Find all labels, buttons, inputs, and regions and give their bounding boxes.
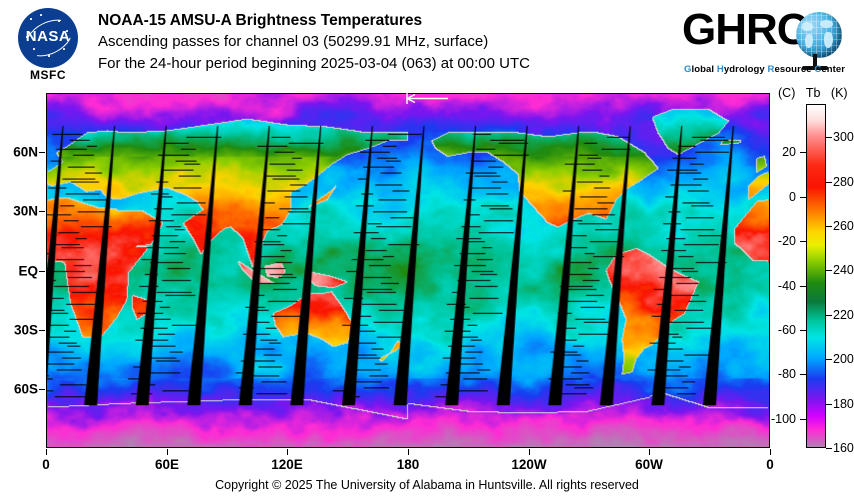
x-axis-label: 120E [271,457,303,472]
colorbar-quantity: Tb [806,86,821,100]
x-axis-label: 180 [397,457,420,472]
globe-icon [796,12,842,58]
y-axis-label: EQ [0,264,38,279]
x-axis-tick [408,449,409,455]
x-axis-tick [287,449,288,455]
x-axis-label: 120W [511,457,546,472]
colorbar-tick-celsius [800,330,806,331]
colorbar-label-kelvin: 200 [833,352,854,366]
colorbar-label-celsius: -20 [756,234,796,248]
colorbar-label-kelvin: 300 [833,130,854,144]
title-subline-pass: Ascending passes for channel 03 (50299.9… [98,31,678,53]
colorbar-gradient [806,104,826,448]
colorbar-label-celsius: -100 [756,412,796,426]
y-axis-label: 30N [0,204,38,219]
colorbar-label-celsius: -60 [756,323,796,337]
ghrc-subtitle: Global Hydrology Resource Center [684,64,848,75]
map-raster [47,94,769,447]
y-axis-label: 60N [0,145,38,160]
colorbar-label-celsius: -40 [756,279,796,293]
colorbar-tick-kelvin [826,359,832,360]
y-axis-tick [39,389,45,390]
x-axis-label: 0 [766,457,774,472]
colorbar-tick-celsius [800,419,806,420]
x-axis-tick [649,449,650,455]
page-title: NOAA-15 AMSU-A Brightness Temperatures [98,10,678,31]
colorbar-tick-celsius [800,374,806,375]
nasa-meatball-icon: NASA [18,8,78,68]
x-axis-label: 60E [155,457,179,472]
colorbar-unit-celsius: (C) [778,86,795,100]
colorbar-tick-celsius [800,241,806,242]
colorbar-tick-kelvin [826,404,832,405]
x-axis-label: 60W [635,457,663,472]
colorbar-label-celsius: -80 [756,367,796,381]
colorbar-tick-kelvin [826,315,832,316]
title-block: NOAA-15 AMSU-A Brightness Temperatures A… [98,10,678,75]
colorbar-label-celsius: 20 [756,145,796,159]
colorbar-tick-kelvin [826,137,832,138]
colorbar-tick-kelvin [826,226,832,227]
colorbar-label-celsius: 0 [756,190,796,204]
screenshot-root: NASA MSFC NOAA-15 AMSU-A Brightness Temp… [0,0,854,502]
brightness-temperature-map[interactable] [46,93,770,448]
ghrc-logo: GHRC Global Hydrology Resource Center [682,4,850,78]
y-axis-tick [39,211,45,212]
colorbar-label-kelvin: 220 [833,308,854,322]
colorbar-label-kelvin: 260 [833,219,854,233]
y-axis-tick [39,152,45,153]
copyright-notice: Copyright © 2025 The University of Alaba… [0,478,854,492]
colorbar-tick-kelvin [826,270,832,271]
colorbar-tick-celsius [800,286,806,287]
x-axis-tick [529,449,530,455]
y-axis-tick [39,271,45,272]
x-axis-tick [167,449,168,455]
y-axis-label: 30S [0,323,38,338]
colorbar-tick-celsius [800,197,806,198]
colorbar-label-kelvin: 180 [833,397,854,411]
x-axis-tick [770,449,771,455]
colorbar-label-kelvin: 160 [833,441,854,455]
colorbar-tick-celsius [800,152,806,153]
colorbar-label-kelvin: 240 [833,263,854,277]
x-axis-label: 0 [42,457,50,472]
title-subline-period: For the 24-hour period beginning 2025-03… [98,53,678,75]
colorbar-tick-kelvin [826,448,832,449]
y-axis-label: 60S [0,382,38,397]
north-direction-marker [406,92,450,105]
y-axis-tick [39,330,45,331]
colorbar-label-kelvin: 280 [833,175,854,189]
ghrc-wordmark: GHRC [682,4,808,56]
colorbar-unit-kelvin: (K) [831,86,848,100]
nasa-center-label: MSFC [8,68,88,82]
colorbar-tick-kelvin [826,182,832,183]
x-axis-tick [46,449,47,455]
colorbar-header: (C) Tb (K) [778,86,854,100]
nasa-logo: NASA MSFC [8,6,88,84]
